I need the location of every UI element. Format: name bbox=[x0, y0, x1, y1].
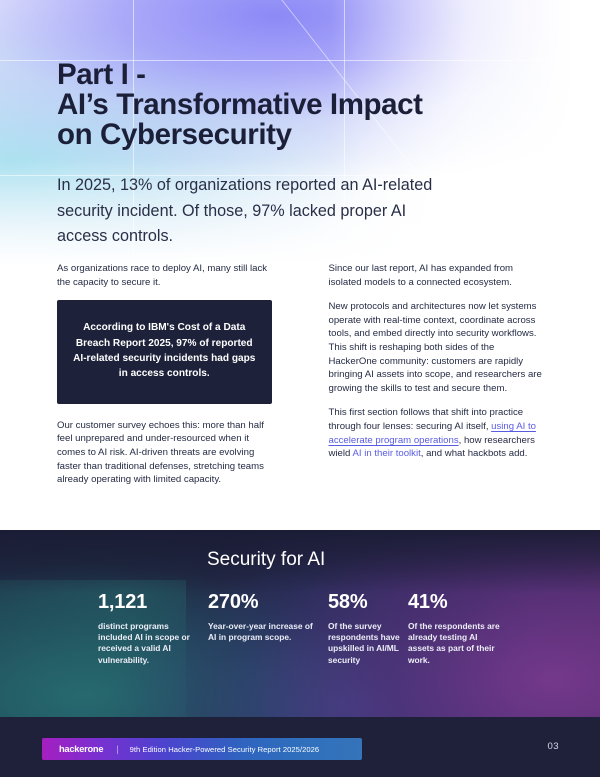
footer-report-caption: 9th Edition Hacker-Powered Security Repo… bbox=[130, 745, 320, 754]
left-paragraph-1: As organizations race to deploy AI, many… bbox=[57, 262, 272, 289]
security-for-ai-title: Security for AI bbox=[207, 548, 325, 572]
footer-separator: | bbox=[116, 744, 118, 754]
stat-value: 1,121 bbox=[98, 591, 202, 614]
ibm-callout-box: According to IBM's Cost of a Data Breach… bbox=[57, 300, 272, 404]
stat-item: 58% Of the survey respondents have upski… bbox=[328, 591, 400, 666]
stat-label: Of the survey respondents have upskilled… bbox=[328, 621, 400, 666]
hackerone-logo: hackerone bbox=[59, 744, 103, 754]
ibm-callout-text: According to IBM's Cost of a Data Breach… bbox=[71, 320, 258, 382]
page-footer: hackerone | 9th Edition Hacker-Powered S… bbox=[0, 717, 600, 777]
stat-value: 270% bbox=[208, 591, 314, 614]
stat-label: Of the respondents are already testing A… bbox=[408, 621, 500, 666]
right-paragraph-3: This first section follows that shift in… bbox=[329, 406, 544, 460]
link-ai-in-their-toolkit[interactable]: AI in their toolkit bbox=[353, 448, 421, 459]
statistics-row: 1,121 distinct programs included AI in s… bbox=[0, 591, 600, 691]
page-lede: In 2025, 13% of organizations reported a… bbox=[57, 173, 457, 250]
stat-label: Year-over-year increase of AI in program… bbox=[208, 621, 314, 643]
right-paragraph-2: New protocols and architectures now let … bbox=[329, 300, 544, 395]
stat-item: 1,121 distinct programs included AI in s… bbox=[98, 591, 202, 666]
right-paragraph-3-text-3: , and what hackbots add. bbox=[421, 448, 528, 459]
stat-item: 41% Of the respondents are already testi… bbox=[408, 591, 500, 666]
left-paragraph-2: Our customer survey echoes this: more th… bbox=[57, 419, 272, 487]
right-paragraph-1: Since our last report, AI has expanded f… bbox=[329, 262, 544, 289]
page-number: 03 bbox=[548, 741, 559, 752]
body-columns: As organizations race to deploy AI, many… bbox=[57, 262, 543, 487]
stat-item: 270% Year-over-year increase of AI in pr… bbox=[208, 591, 314, 643]
body-column-left: As organizations race to deploy AI, many… bbox=[57, 262, 272, 487]
page-title: Part I - AI’s Transformative Impact on C… bbox=[57, 60, 477, 150]
stat-value: 41% bbox=[408, 591, 500, 614]
stat-label: distinct programs included AI in scope o… bbox=[98, 621, 202, 666]
body-column-right: Since our last report, AI has expanded f… bbox=[329, 262, 544, 487]
stat-value: 58% bbox=[328, 591, 400, 614]
footer-brand-pill: hackerone | 9th Edition Hacker-Powered S… bbox=[42, 738, 362, 760]
